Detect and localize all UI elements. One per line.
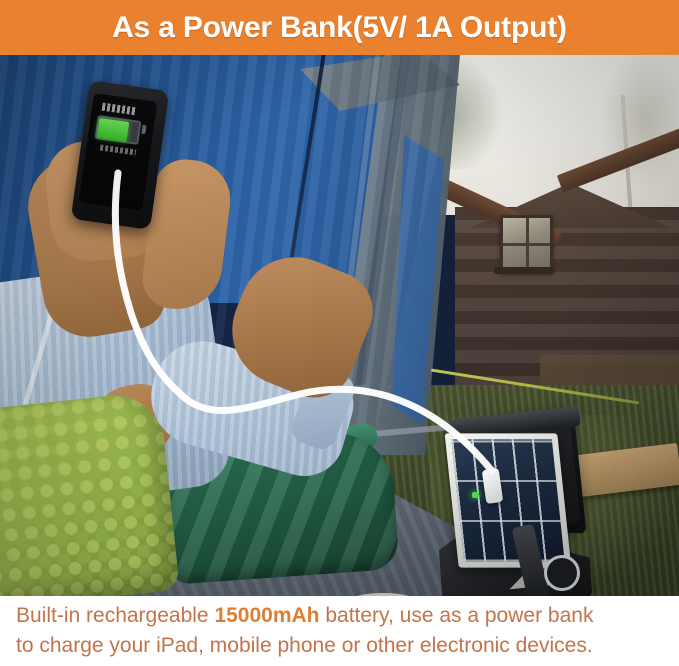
- caption-line-1: Built-in rechargeable 15000mAh battery, …: [16, 601, 679, 631]
- banner-title: As a Power Bank(5V/ 1A Output): [112, 11, 567, 45]
- product-feature-card: As a Power Bank(5V/ 1A Output): [0, 0, 679, 666]
- feature-banner: As a Power Bank(5V/ 1A Output): [0, 0, 679, 55]
- caption-line-2: to charge your iPad, mobile phone or oth…: [16, 631, 679, 661]
- caption-line1-pre: Built-in rechargeable: [16, 604, 214, 627]
- product-caption: Built-in rechargeable 15000mAh battery, …: [0, 596, 679, 666]
- photo-vignette: [0, 55, 679, 596]
- product-lifestyle-photo: [0, 55, 679, 596]
- caption-capacity-highlight: 15000mAh: [214, 604, 319, 627]
- caption-line1-post: battery, use as a power bank: [320, 604, 594, 627]
